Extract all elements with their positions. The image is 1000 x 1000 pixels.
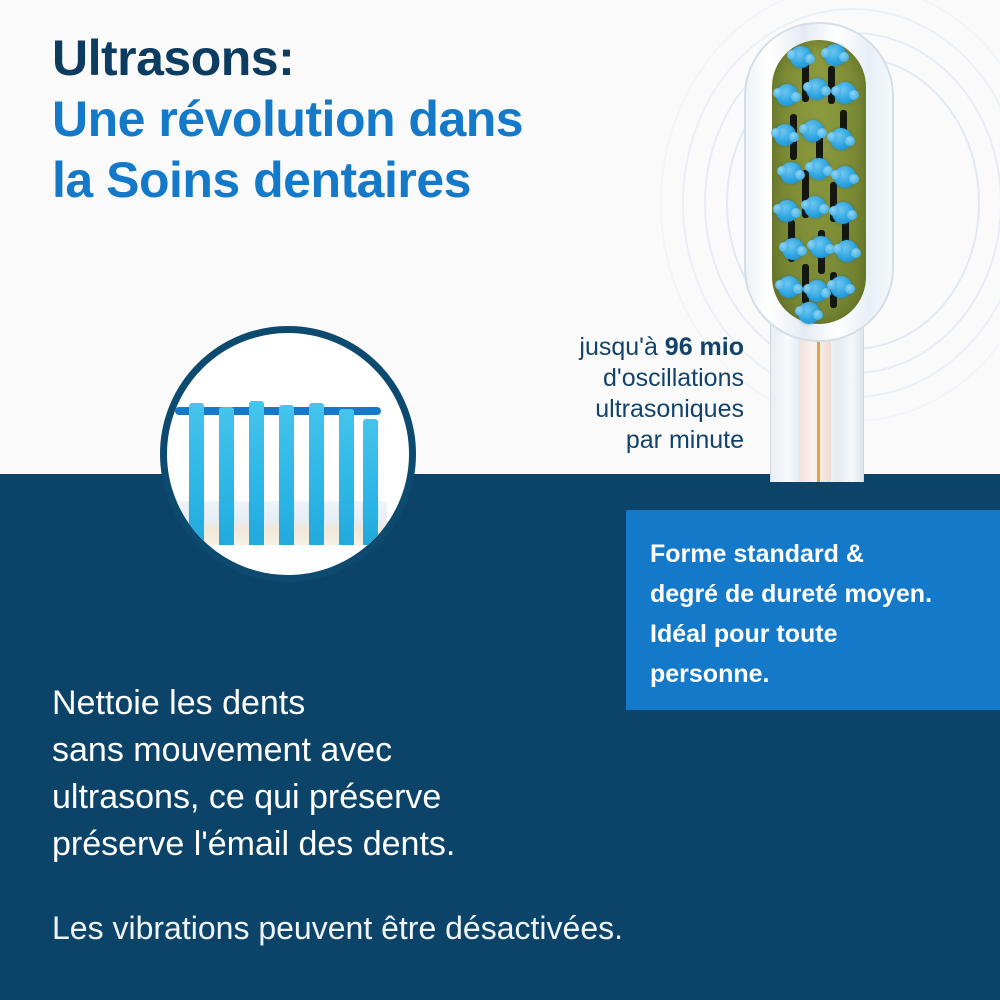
- promo-poster: jusqu'à 96 mio d'oscillations ultrasoniq…: [0, 0, 1000, 1000]
- callout-line-3: Idéal pour toute: [650, 614, 980, 654]
- bristle-tuft: [782, 238, 804, 260]
- headline-line-2: Une révolution dans: [52, 89, 742, 150]
- bristle-tuft: [774, 124, 796, 146]
- caption-line-4: par minute: [430, 425, 744, 456]
- bristle-slot: [828, 66, 835, 104]
- bristle-tuft: [830, 276, 852, 298]
- brush-head-capsule: [744, 22, 894, 342]
- callout-line-4: personne.: [650, 654, 980, 694]
- bristle-tuft: [363, 419, 378, 545]
- bristle-tuft: [189, 403, 204, 545]
- bristle-tuft: [808, 158, 830, 180]
- headline-line-1: Ultrasons:: [52, 28, 742, 89]
- bristle-tuft: [798, 302, 820, 324]
- body-line-2: sans mouvement avec: [52, 727, 652, 774]
- bristle-tuft: [279, 405, 294, 545]
- bristle-tuft: [249, 401, 264, 545]
- bristle-tuft: [810, 236, 832, 258]
- caption-prefix: jusqu'à: [579, 333, 664, 361]
- brush-head-photo: [718, 6, 918, 476]
- headline-line-3: la Soins dentaires: [52, 150, 742, 211]
- bristle-tuft: [824, 44, 846, 66]
- bristle-tuft: [219, 407, 234, 545]
- footnote: Les vibrations peuvent être désactivées.: [52, 908, 952, 948]
- bristle-tuft: [806, 78, 828, 100]
- caption-value: 96 mio: [665, 333, 744, 361]
- bristle-tuft: [806, 280, 828, 302]
- shaft-wire: [817, 332, 820, 482]
- bristle-tuft: [836, 240, 858, 262]
- bristle-tuft: [790, 46, 812, 68]
- bristle-tuft: [804, 196, 826, 218]
- caption-line-1: jusqu'à 96 mio: [430, 332, 744, 363]
- bristle-tuft: [780, 162, 802, 184]
- bristle-tuft: [834, 82, 856, 104]
- bristle-tuft: [339, 409, 354, 545]
- callout-line-2: degré de dureté moyen.: [650, 574, 980, 614]
- bristle-tuft: [309, 403, 324, 545]
- headline: Ultrasons: Une révolution dans la Soins …: [52, 28, 742, 211]
- bristle-tuft: [778, 276, 800, 298]
- body-line-3: ultrasons, ce qui préserve: [52, 774, 652, 821]
- bristle-tuft: [832, 202, 854, 224]
- bristle-tuft: [776, 200, 798, 222]
- caption-line-3: ultrasoniques: [430, 394, 744, 425]
- caption-line-2: d'oscillations: [430, 363, 744, 394]
- body-line-4: préserve l'émail des dents.: [52, 821, 652, 868]
- bristle-field: [772, 40, 866, 324]
- bristle-tuft: [802, 120, 824, 142]
- body-line-1: Nettoie les dents: [52, 680, 652, 727]
- callout-text: Forme standard & degré de dureté moyen. …: [650, 534, 980, 694]
- oscillation-caption: jusqu'à 96 mio d'oscillations ultrasoniq…: [430, 332, 744, 456]
- bristle-tuft: [830, 128, 852, 150]
- callout-box: Forme standard & degré de dureté moyen. …: [626, 510, 1000, 710]
- callout-line-1: Forme standard &: [650, 534, 980, 574]
- bristle-tuft: [834, 166, 856, 188]
- bristle-closeup-inset: [160, 326, 416, 582]
- bristle-tuft: [776, 84, 798, 106]
- body-copy: Nettoie les dents sans mouvement avec ul…: [52, 680, 652, 868]
